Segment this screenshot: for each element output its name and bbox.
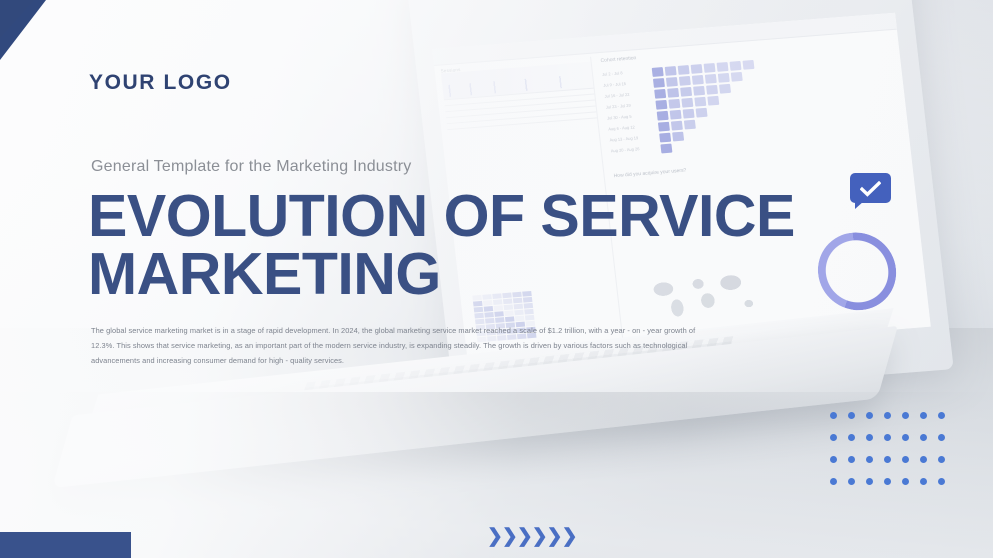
dot xyxy=(920,412,927,419)
dot xyxy=(830,456,837,463)
slide-body-paragraph: The global service marketing market is i… xyxy=(91,324,706,368)
presentation-slide: Sessions Cohort retention Jul 2 - Jul 8J… xyxy=(0,0,993,558)
dot xyxy=(902,478,909,485)
dot xyxy=(920,456,927,463)
dot xyxy=(938,434,945,441)
dot-grid-decoration xyxy=(830,412,956,500)
dot xyxy=(902,434,909,441)
dot xyxy=(866,434,873,441)
dot xyxy=(884,434,891,441)
page-title: EVOLUTION OF SERVICE MARKETING xyxy=(88,188,888,304)
dot xyxy=(884,478,891,485)
slide-subtitle: General Template for the Marketing Indus… xyxy=(91,158,411,176)
dot xyxy=(848,412,855,419)
dot xyxy=(938,412,945,419)
page-title-line-1: EVOLUTION OF SERVICE xyxy=(88,183,795,249)
dot xyxy=(920,478,927,485)
dot xyxy=(830,478,837,485)
dot xyxy=(848,478,855,485)
chevron-arrows-icon: ❯❯❯❯❯❯ xyxy=(487,527,577,546)
logo: YOUR LOGO xyxy=(89,71,232,95)
dot xyxy=(866,412,873,419)
page-title-line-2: MARKETING xyxy=(88,246,888,304)
dot xyxy=(938,478,945,485)
dot xyxy=(920,434,927,441)
dot xyxy=(830,412,837,419)
dot xyxy=(938,456,945,463)
dot xyxy=(866,456,873,463)
dot xyxy=(848,456,855,463)
dot xyxy=(884,456,891,463)
dot xyxy=(848,434,855,441)
dot xyxy=(866,478,873,485)
dot xyxy=(902,456,909,463)
dot xyxy=(884,412,891,419)
dot xyxy=(902,412,909,419)
corner-triangle-decoration-inner xyxy=(0,0,34,38)
bottom-left-bar-decoration xyxy=(0,532,131,558)
dot xyxy=(830,434,837,441)
